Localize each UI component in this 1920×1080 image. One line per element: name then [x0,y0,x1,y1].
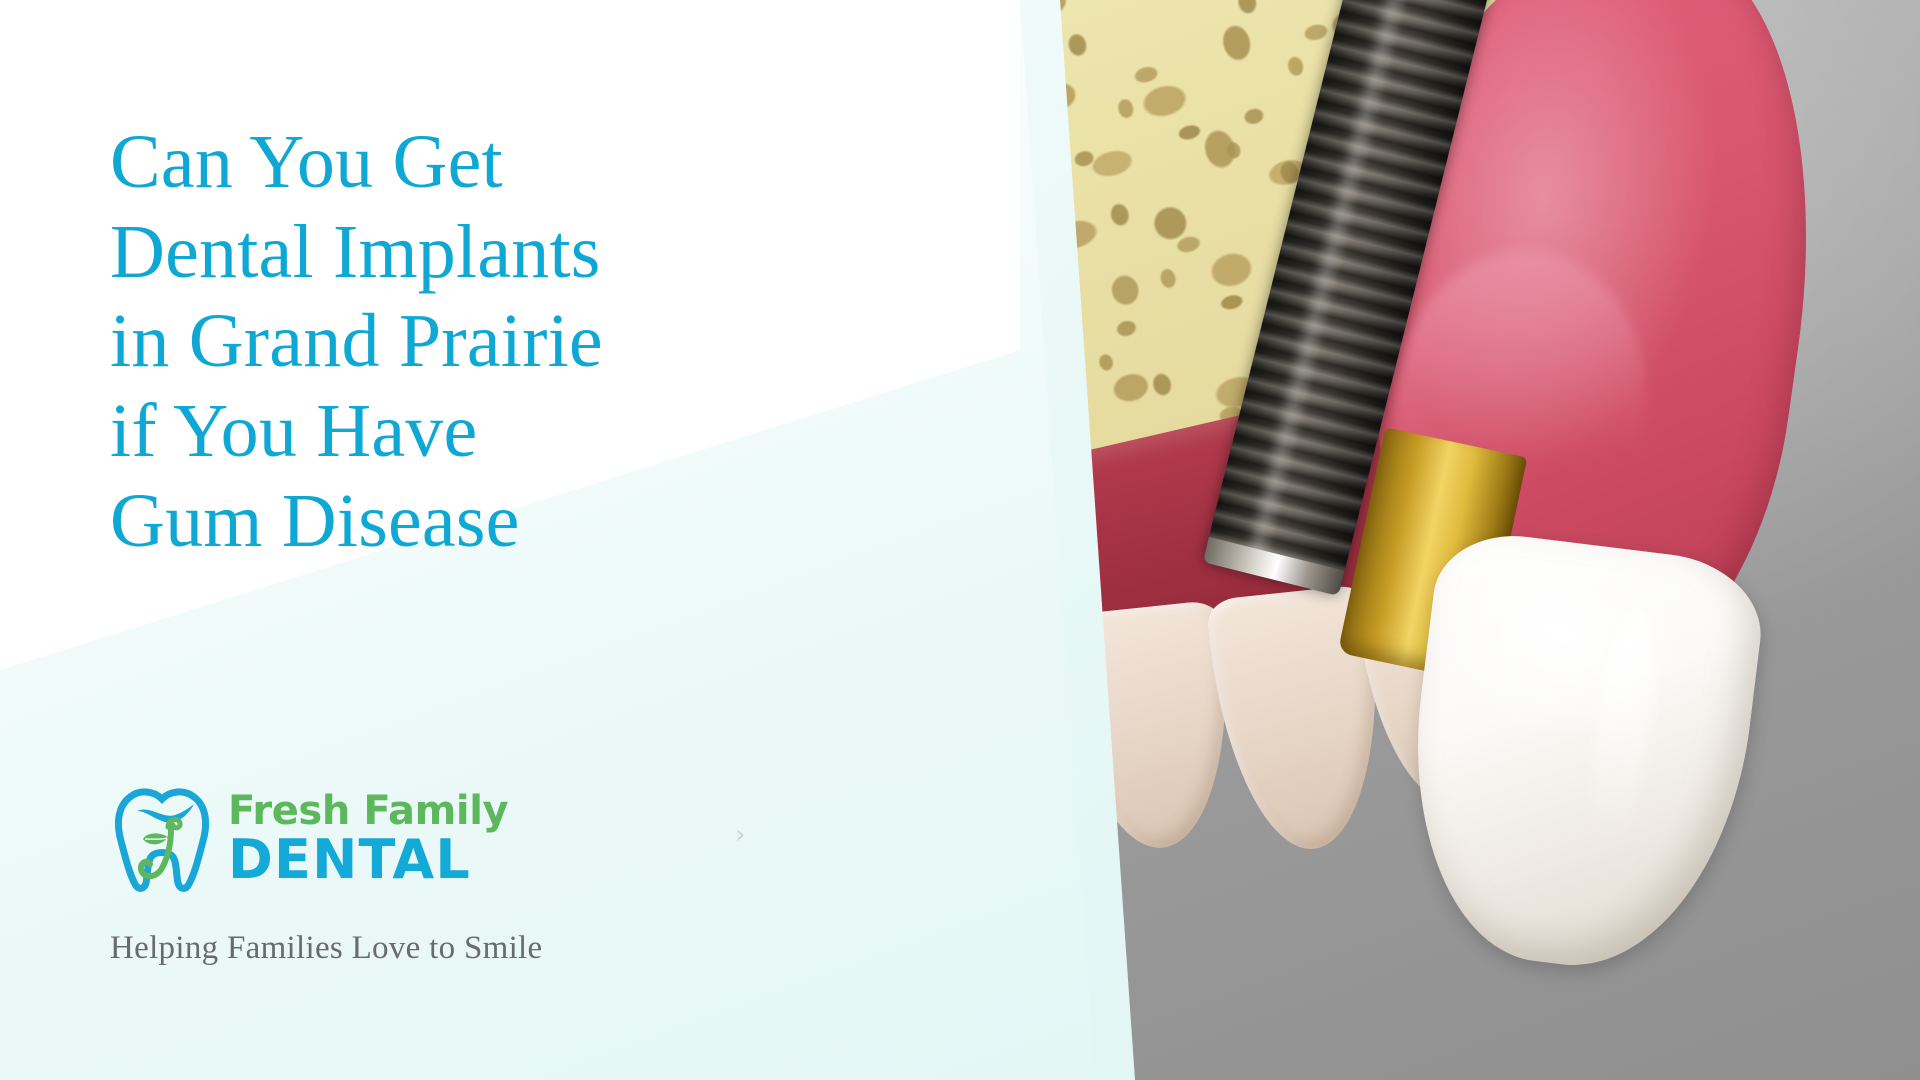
brand-name-bottom: DENTAL [228,833,508,887]
chevron-right-icon: › [735,820,745,850]
brand-wordmark: Fresh Family DENTAL [228,791,508,887]
blog-banner: Can You Get Dental Implants in Grand Pra… [0,0,1920,1080]
brand-name-top: Fresh Family [228,791,508,831]
ceramic-crown [1391,526,1770,983]
brand-lockup[interactable]: Fresh Family DENTAL [110,785,508,893]
brand-tagline: Helping Families Love to Smile [110,930,542,967]
page-title: Can You Get Dental Implants in Grand Pra… [110,118,890,566]
headline-block: Can You Get Dental Implants in Grand Pra… [110,118,890,566]
tooth-sprout-logo-icon [110,785,214,893]
